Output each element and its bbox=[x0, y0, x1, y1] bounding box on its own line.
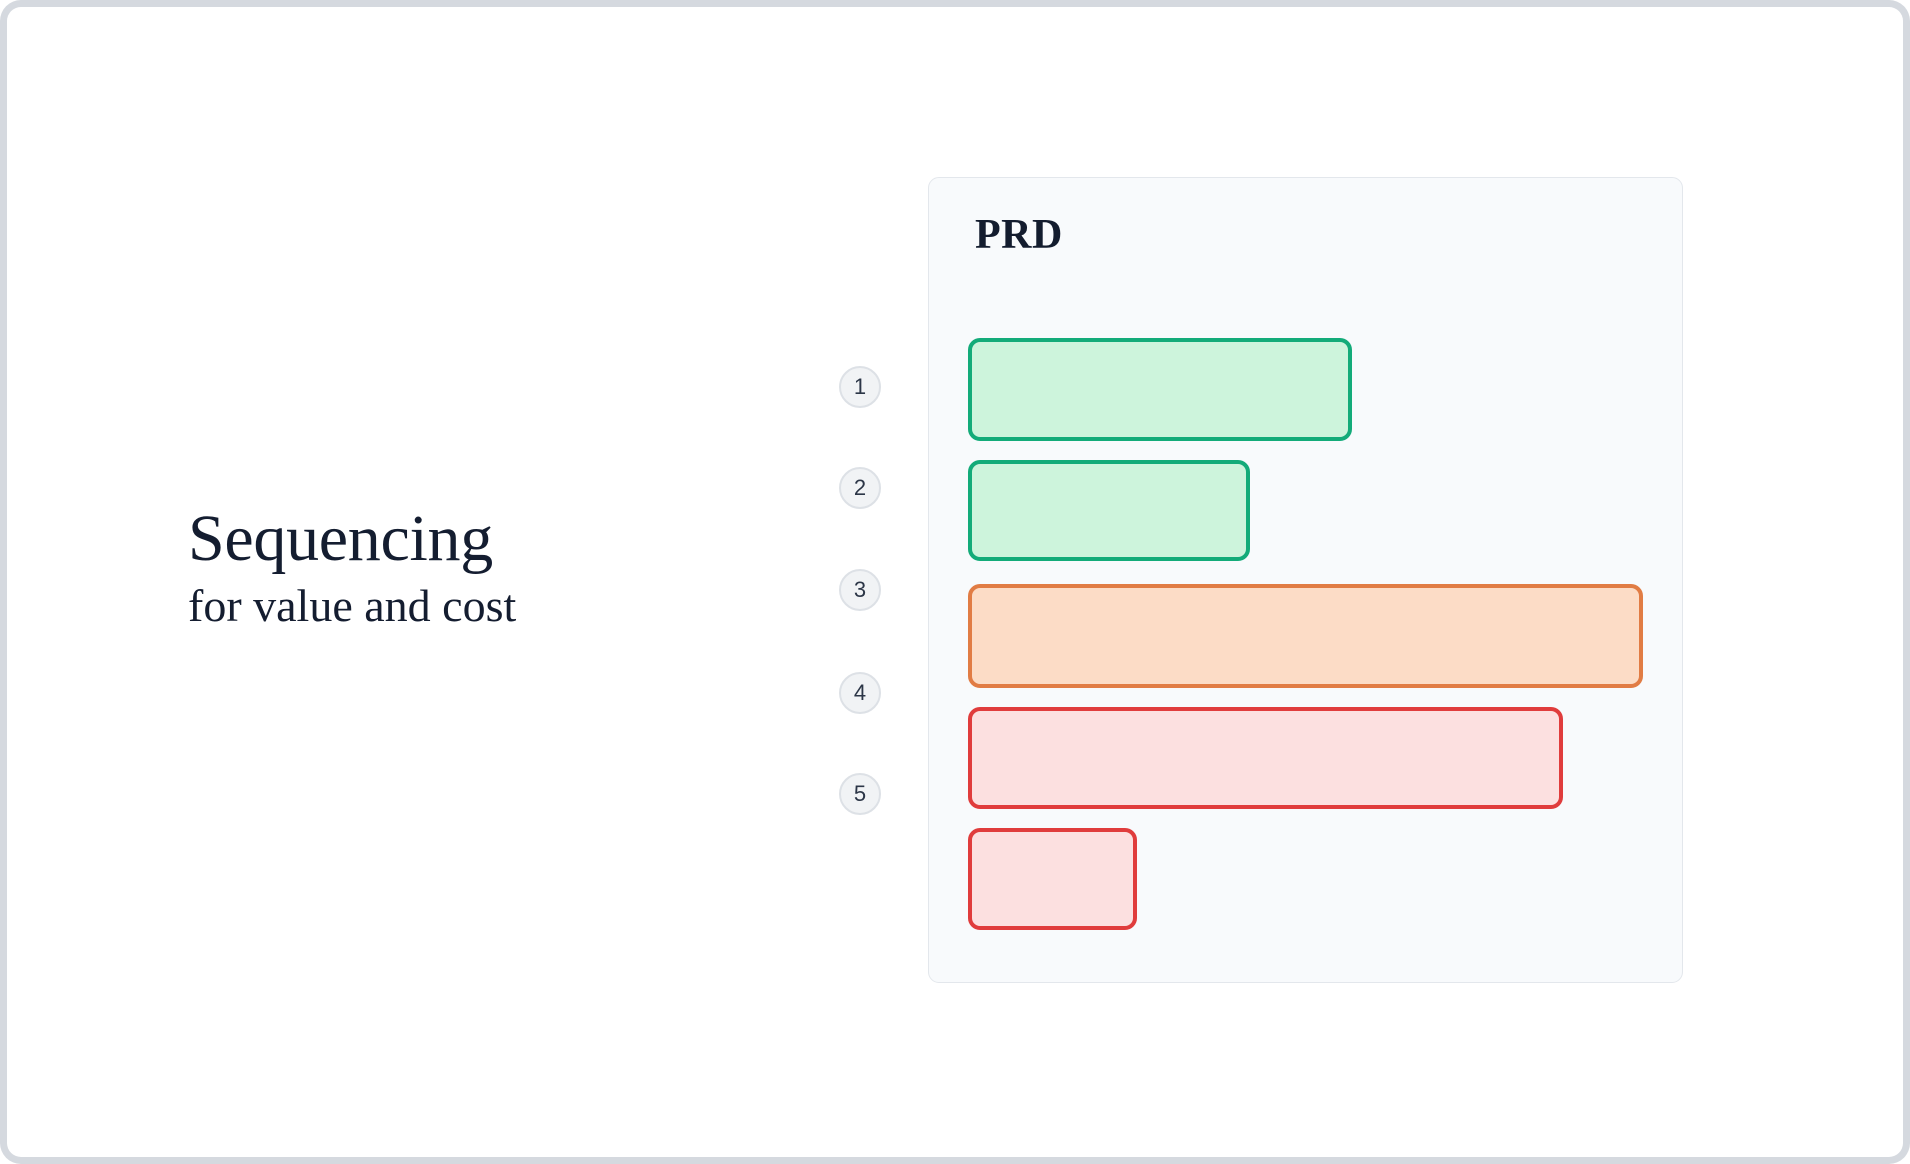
bar-1[interactable] bbox=[968, 338, 1352, 441]
bar-3[interactable] bbox=[968, 584, 1643, 688]
page-title: Sequencing bbox=[188, 505, 748, 572]
card-title: PRD bbox=[975, 214, 1063, 256]
slide: Sequencing for value and cost PRD 1 2 3 … bbox=[0, 0, 1910, 1164]
step-badge-3[interactable]: 3 bbox=[839, 569, 881, 611]
bar-5[interactable] bbox=[968, 828, 1137, 930]
step-badge-2[interactable]: 2 bbox=[839, 467, 881, 509]
step-badge-4[interactable]: 4 bbox=[839, 672, 881, 714]
page-subtitle: for value and cost bbox=[188, 580, 748, 632]
bar-4[interactable] bbox=[968, 707, 1563, 809]
step-badge-5[interactable]: 5 bbox=[839, 773, 881, 815]
title-block: Sequencing for value and cost bbox=[188, 505, 748, 632]
step-badge-1[interactable]: 1 bbox=[839, 366, 881, 408]
bar-2[interactable] bbox=[968, 460, 1250, 561]
